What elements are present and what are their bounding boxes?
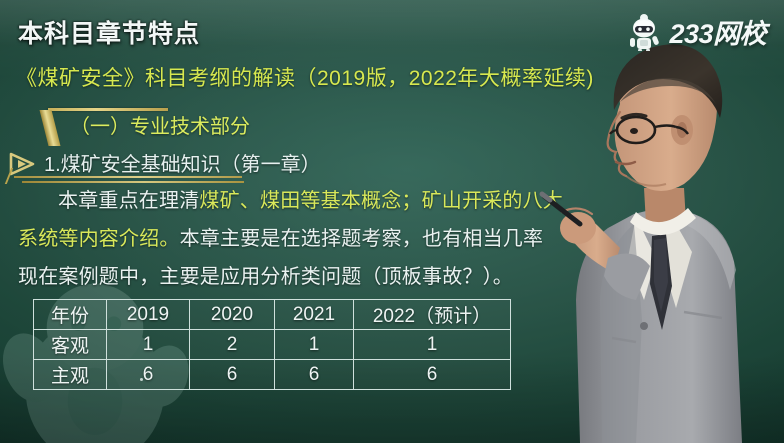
table-cell-subjective-2020: 6 (190, 360, 275, 390)
body-line-1-highlight: 煤矿、煤田等基本概念；矿山开采的八大 (199, 190, 563, 212)
table-row: 客观 1 2 1 1 (34, 330, 511, 360)
table-header-year: 年份 (34, 300, 107, 330)
table-header-2020: 2020 (190, 300, 275, 330)
table-cell-objective-2021: 1 (275, 330, 354, 360)
table-cell-subjective-2019: 6 (107, 360, 190, 390)
body-line-2-highlight: 系统等内容介绍。 (18, 228, 180, 250)
page-title: 本科目章节特点 (18, 14, 200, 50)
brand-name: 233网校 (669, 12, 766, 51)
table-header-2021: 2021 (275, 300, 354, 330)
table-row: 主观 6 6 6 6 (34, 360, 511, 390)
body-paragraph: 本章重点在理清煤矿、煤田等基本概念；矿山开采的八大 系统等内容介绍。本章主要是在… (18, 182, 558, 296)
slide-stage: 本科目章节特点 《煤矿安全》科目考纲的解读（2019版，2022年大概率延续) … (0, 0, 784, 443)
body-line-1-plain: 本章重点在理清 (58, 190, 199, 212)
table-header-row: 年份 2019 2020 2021 2022（预计） (34, 300, 511, 330)
body-line-1: 本章重点在理清煤矿、煤田等基本概念；矿山开采的八大 (18, 182, 558, 220)
body-line-3-plain: 现在案例题中，主要是应用分析类问题（顶板事故？）。 (18, 266, 513, 288)
gold-slash-marker-icon (40, 110, 61, 146)
exam-stats-table: 年份 2019 2020 2021 2022（预计） 客观 1 2 1 1 主观… (33, 299, 511, 390)
table-cell-objective-2022: 1 (354, 330, 511, 360)
table-cell-subjective-2022: 6 (354, 360, 511, 390)
body-line-2: 系统等内容介绍。本章主要是在选择题考察，也有相当几率 (18, 220, 558, 258)
body-line-3: 现在案例题中，主要是应用分析类问题（顶板事故？）。 (18, 258, 558, 296)
body-line-2-plain: 本章主要是在选择题考察，也有相当几率 (180, 228, 544, 250)
table-header-2019: 2019 (107, 300, 190, 330)
slide-subtitle: 《煤矿安全》科目考纲的解读（2019版，2022年大概率延续) (16, 62, 594, 92)
table-row-label-objective: 客观 (34, 330, 107, 360)
table-row-label-subjective: 主观 (34, 360, 107, 390)
item-underline-upper (14, 176, 242, 178)
brand-logo[interactable]: 233网校 (627, 12, 766, 51)
chalk-speck (140, 378, 143, 381)
table-header-2022: 2022（预计） (354, 300, 511, 330)
table-cell-subjective-2021: 6 (275, 360, 354, 390)
table-cell-objective-2020: 2 (190, 330, 275, 360)
outline-item-1-label: 1.煤矿安全基础知识（第一章） (44, 148, 321, 177)
table-cell-objective-2019: 1 (107, 330, 190, 360)
robot-mascot-icon (627, 13, 661, 51)
glasses-icon (610, 117, 688, 143)
section-heading-label: （一）专业技术部分 (70, 110, 250, 139)
